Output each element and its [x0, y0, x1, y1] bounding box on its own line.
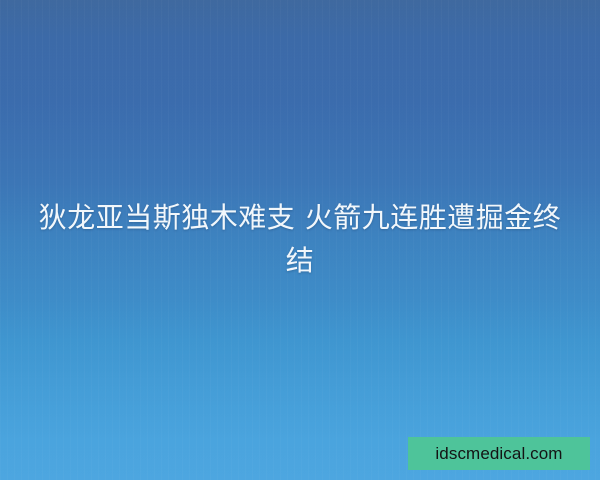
- watermark-site-label: idscmedical.com: [435, 445, 562, 462]
- article-cover-image: 狄龙亚当斯独木难支 火箭九连胜遭掘金终结 idscmedical.com: [0, 0, 600, 480]
- watermark-badge: idscmedical.com: [408, 437, 590, 470]
- headline-title: 狄龙亚当斯独木难支 火箭九连胜遭掘金终结: [0, 196, 600, 282]
